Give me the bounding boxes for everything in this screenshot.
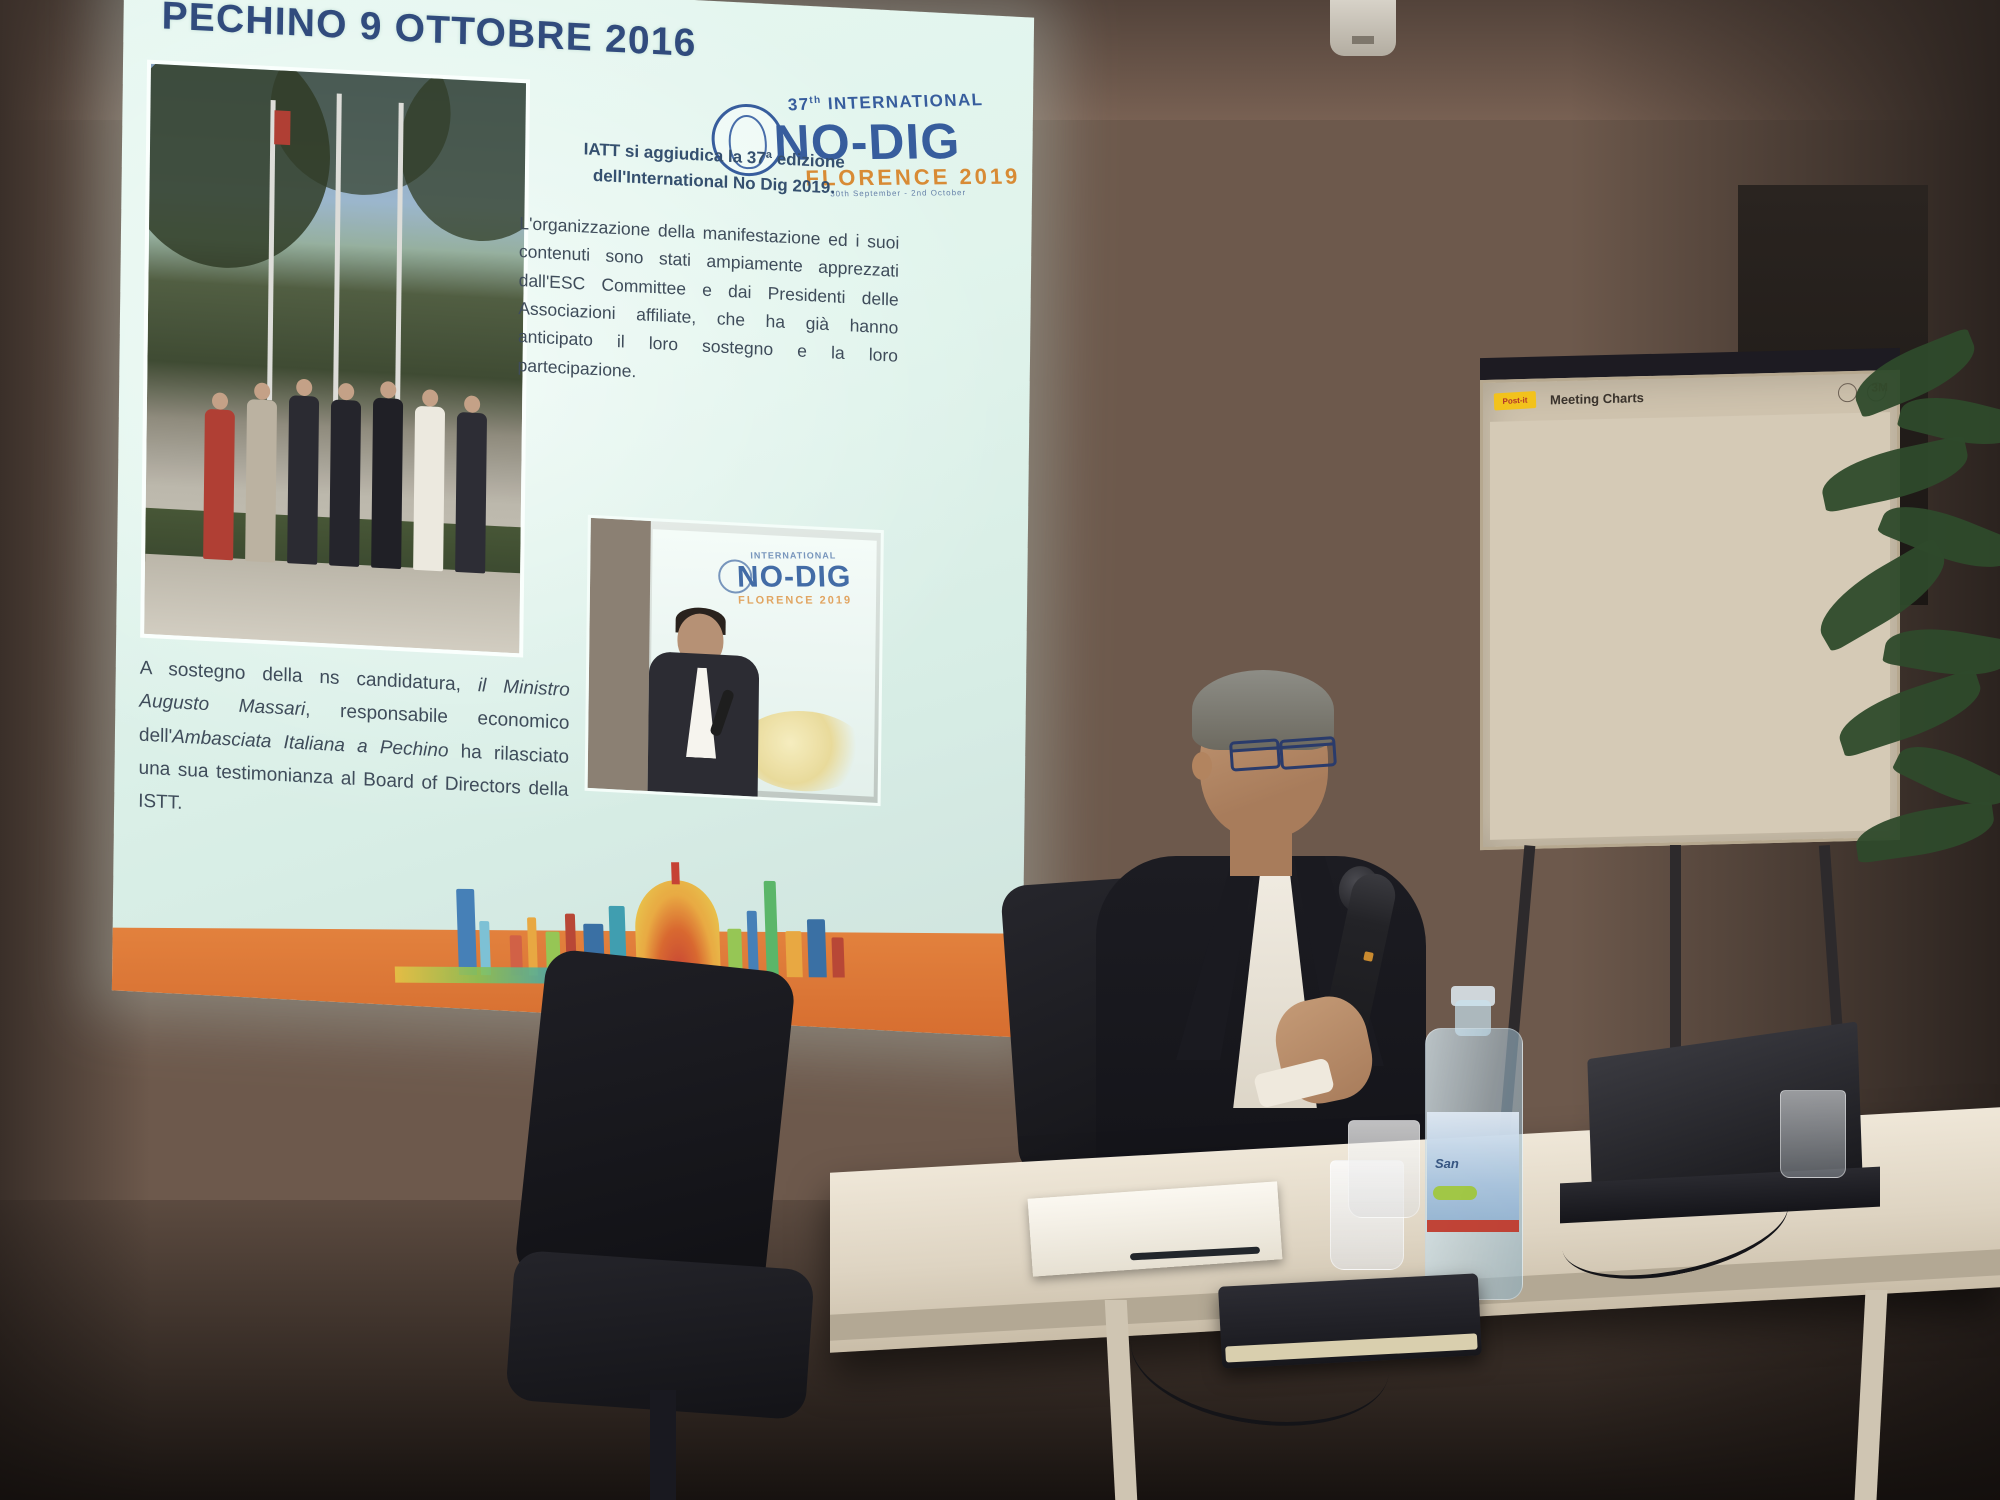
sensor-led-icon: [1352, 36, 1374, 44]
eyeglasses-icon: [1279, 736, 1337, 770]
logo-edition: 37: [787, 95, 810, 115]
person-in-photo: [245, 399, 277, 563]
post-it-logo: Post-it: [1494, 391, 1537, 410]
drinking-glass: [1780, 1090, 1846, 1178]
slide-caption: A sostegno della ns candidatura, il Mini…: [138, 652, 570, 841]
projection-screen: PECHINO 9 OTTOBRE 2016 37th INTERNATIONA…: [112, 0, 1034, 1038]
eyeglasses-icon: [1229, 738, 1281, 771]
inset-logo-main: NO-DIG: [714, 560, 875, 594]
person-in-photo: [413, 406, 445, 572]
water-bottle: San: [1425, 1000, 1521, 1300]
person-in-photo: [203, 409, 235, 561]
slide-surface: PECHINO 9 OTTOBRE 2016 37th INTERNATIONA…: [112, 0, 1034, 1038]
potted-plant: [1670, 340, 2000, 960]
bottle-brand-text: San: [1435, 1156, 1459, 1171]
photo-scene: PECHINO 9 OTTOBRE 2016 37th INTERNATIONA…: [0, 0, 2000, 1500]
chair-post: [650, 1390, 676, 1500]
person-in-photo: [329, 399, 361, 567]
caption-part-1: A sostegno della ns candidatura,: [140, 658, 478, 697]
label-green-badge: [1433, 1186, 1477, 1200]
inset-logo-top: INTERNATIONAL: [713, 550, 873, 560]
flipchart-title: Meeting Charts: [1550, 390, 1644, 407]
inset-photo: INTERNATIONAL NO-DIG FLORENCE 2019: [585, 515, 884, 806]
slide-title: PECHINO 9 OTTOBRE 2016: [161, 0, 697, 66]
person-in-photo: [371, 398, 403, 570]
plastic-cup: [1348, 1120, 1420, 1218]
ear: [1192, 752, 1212, 780]
logo-international: INTERNATIONAL: [827, 90, 984, 113]
flag: [274, 110, 290, 145]
microphone-indicator: [1363, 951, 1374, 962]
caption-italic-2: Ambasciata Italiana a Pechino: [172, 726, 449, 761]
ceiling-sensor: [1330, 0, 1396, 56]
person-in-photo: [455, 412, 487, 574]
inset-wall: [588, 518, 651, 791]
person-in-photo: [287, 395, 319, 565]
foreground-chair: [500, 960, 860, 1500]
inset-logo-city: FLORENCE 2019: [715, 595, 875, 607]
chair-backrest: [513, 948, 796, 1302]
logo-edition-suffix: th: [809, 95, 822, 106]
inset-no-dig-logo: INTERNATIONAL NO-DIG FLORENCE 2019: [713, 550, 875, 606]
group-photo: [140, 60, 530, 658]
label-red-stripe: [1427, 1220, 1519, 1232]
bottle-label: San: [1427, 1112, 1519, 1232]
slide-paragraph: L'organizzazione della manifestazione ed…: [517, 209, 899, 399]
